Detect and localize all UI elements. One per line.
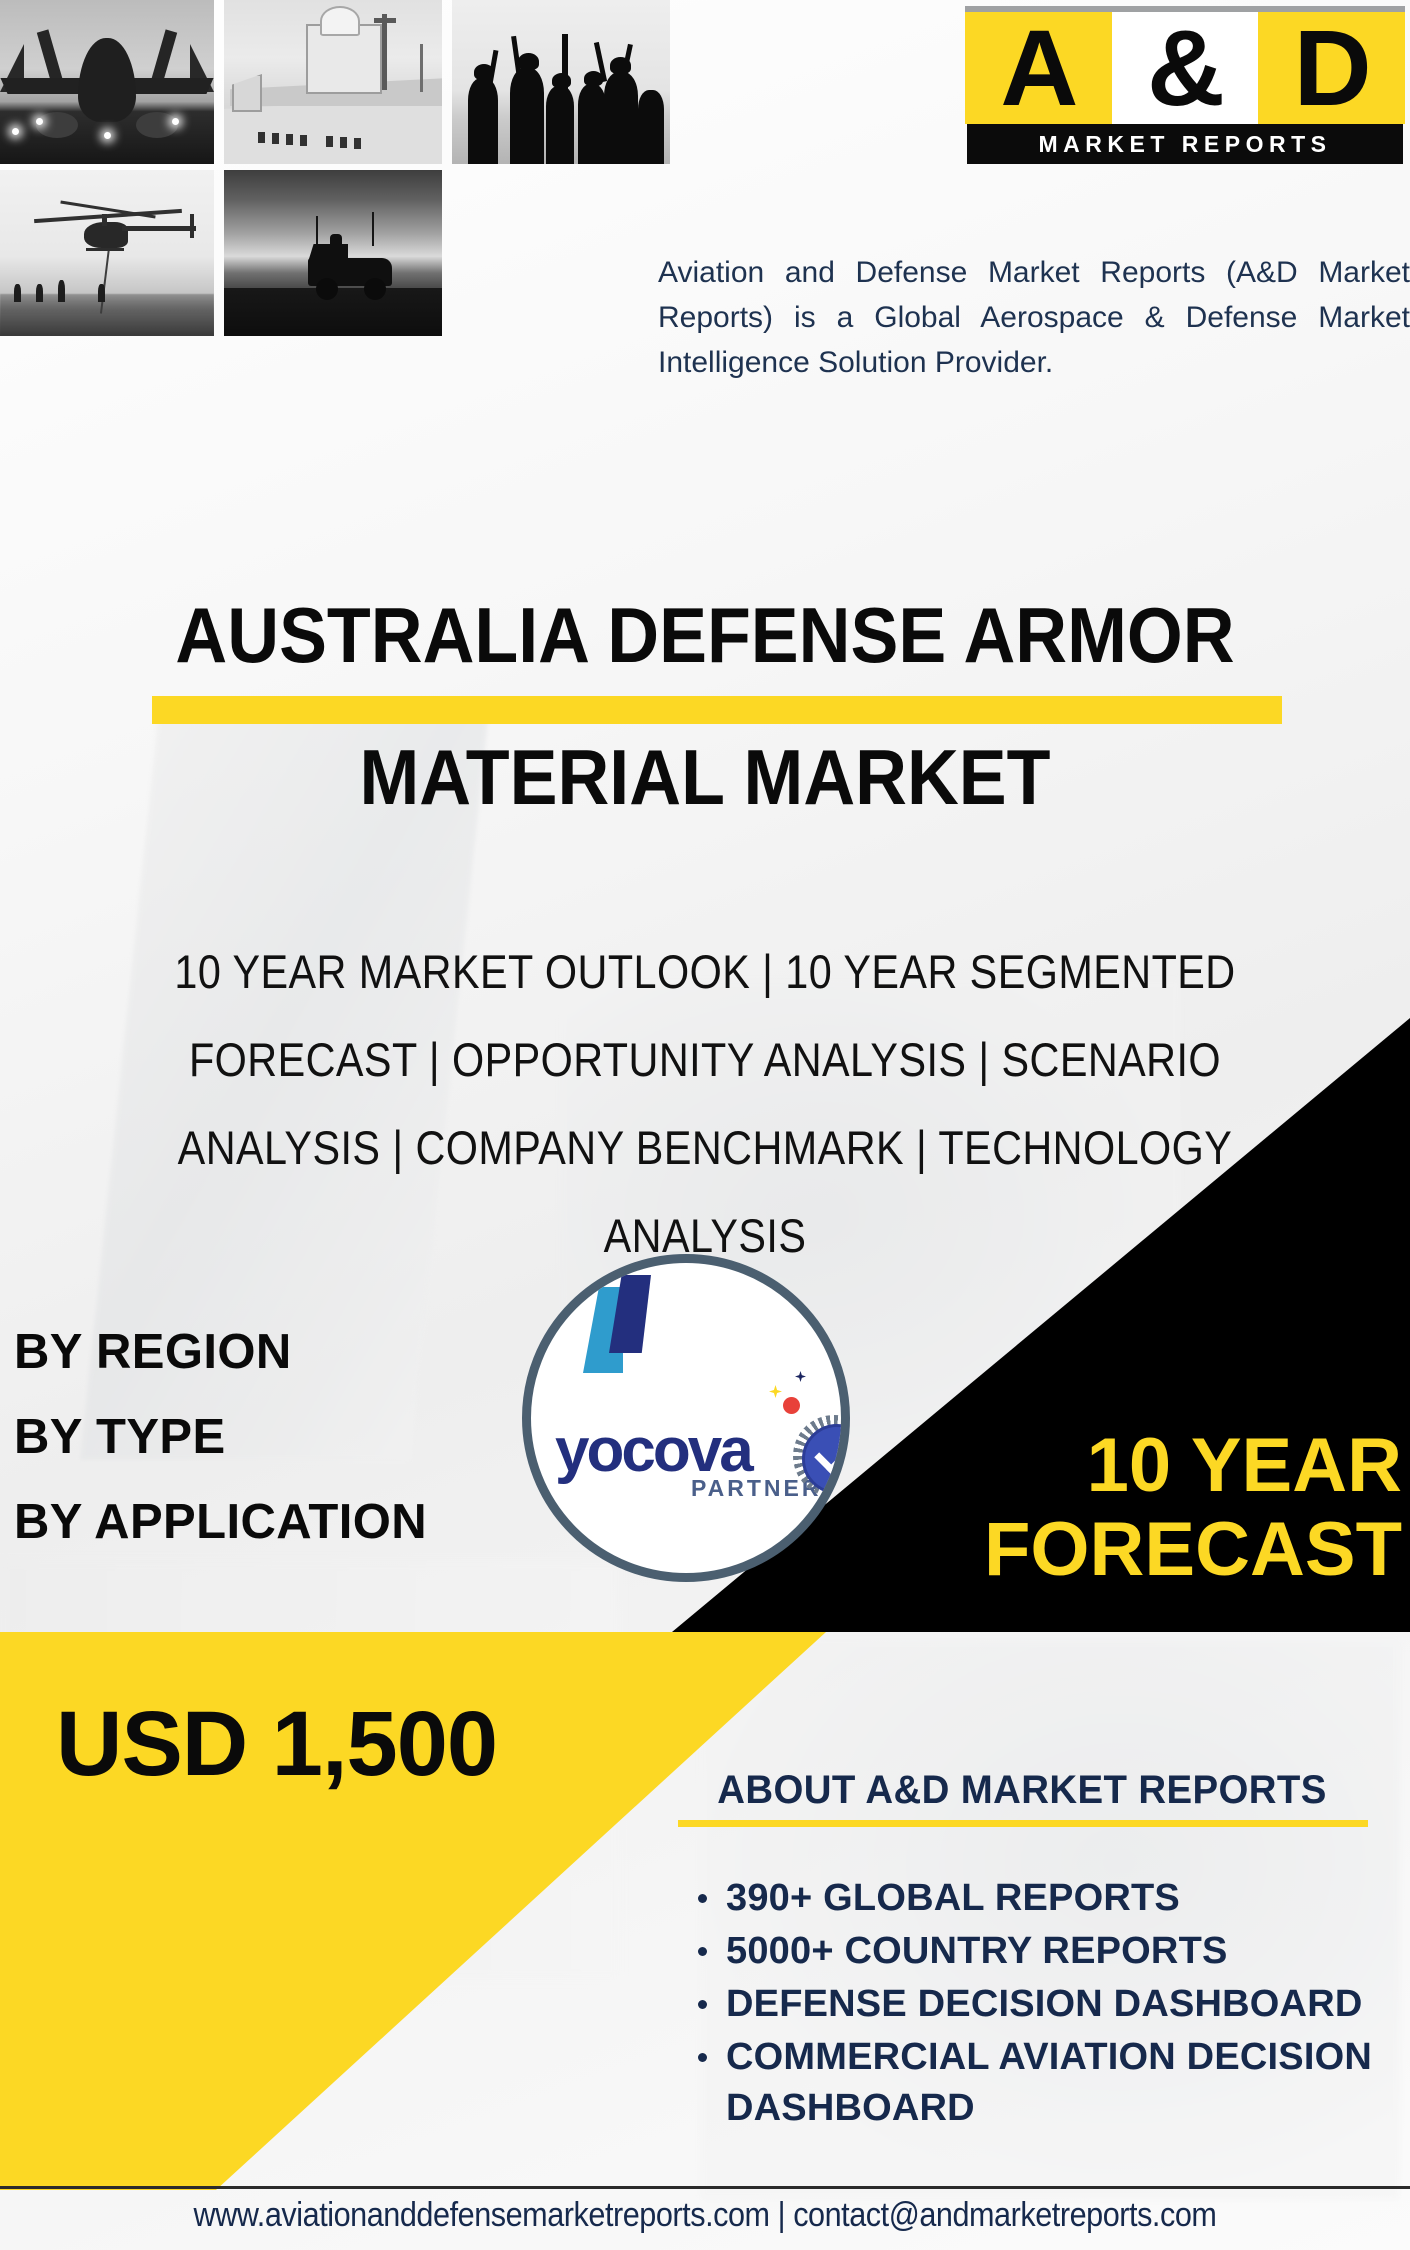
title-accent-bar bbox=[152, 696, 1282, 724]
sparkle-icon bbox=[795, 1371, 806, 1382]
list-item: DEFENSE DECISION DASHBOARD bbox=[726, 1979, 1382, 2030]
segmentation-item-application: BY APPLICATION bbox=[14, 1490, 427, 1555]
soldiers-photo bbox=[452, 0, 670, 164]
forecast-line1: 10 YEAR bbox=[672, 1424, 1402, 1508]
fighter-jet-photo bbox=[0, 0, 214, 164]
forecast-line2: FORECAST bbox=[672, 1508, 1402, 1592]
list-item: COMMERCIAL AVIATION DECISION DASHBOARD bbox=[726, 2032, 1382, 2134]
logo-band-label: MARKET REPORTS bbox=[1039, 131, 1332, 158]
segmentation-list: BY REGION BY TYPE BY APPLICATION bbox=[14, 1320, 427, 1575]
page-title-line1: AUSTRALIA DEFENSE ARMOR bbox=[56, 596, 1353, 674]
armored-vehicle-photo bbox=[224, 170, 442, 336]
about-bullet-list: 390+ GLOBAL REPORTS 5000+ COUNTRY REPORT… bbox=[662, 1873, 1382, 2134]
report-features-subtitle: 10 YEAR MARKET OUTLOOK | 10 YEAR SEGMENT… bbox=[109, 928, 1301, 1280]
header-photo-grid bbox=[0, 0, 672, 338]
warship-photo bbox=[224, 0, 442, 164]
segmentation-item-type: BY TYPE bbox=[14, 1405, 427, 1470]
list-item: 5000+ COUNTRY REPORTS bbox=[726, 1926, 1382, 1977]
about-heading-underline bbox=[678, 1820, 1368, 1827]
price-value: USD 1,500 bbox=[56, 1692, 497, 1797]
footer-contact: www.aviationanddefensemarketreports.com … bbox=[71, 2196, 1340, 2235]
sparkle-icon bbox=[769, 1385, 782, 1398]
logo-letter-cells: A & D bbox=[965, 12, 1405, 124]
poster-canvas: A & D MARKET REPORTS Aviation and Defens… bbox=[0, 0, 1410, 2250]
about-section: ABOUT A&D MARKET REPORTS 390+ GLOBAL REP… bbox=[662, 1768, 1382, 2136]
about-heading: ABOUT A&D MARKET REPORTS bbox=[676, 1768, 1367, 1813]
company-intro-paragraph: Aviation and Defense Market Reports (A&D… bbox=[658, 250, 1410, 385]
logo-letter-a: A bbox=[965, 12, 1112, 124]
logo-market-reports-band: MARKET REPORTS bbox=[967, 124, 1403, 164]
logo-letter-d: D bbox=[1258, 12, 1405, 124]
footer-divider bbox=[0, 2186, 1410, 2189]
segmentation-item-region: BY REGION bbox=[14, 1320, 427, 1385]
dot-icon bbox=[783, 1397, 800, 1414]
list-item: 390+ GLOBAL REPORTS bbox=[726, 1873, 1382, 1924]
page-title-line2: MATERIAL MARKET bbox=[56, 738, 1353, 816]
forecast-banner: 10 YEAR FORECAST bbox=[672, 1424, 1402, 1592]
logo-letter-amp: & bbox=[1112, 12, 1259, 124]
helicopter-photo bbox=[0, 170, 214, 336]
brand-logo: A & D MARKET REPORTS bbox=[965, 6, 1405, 166]
